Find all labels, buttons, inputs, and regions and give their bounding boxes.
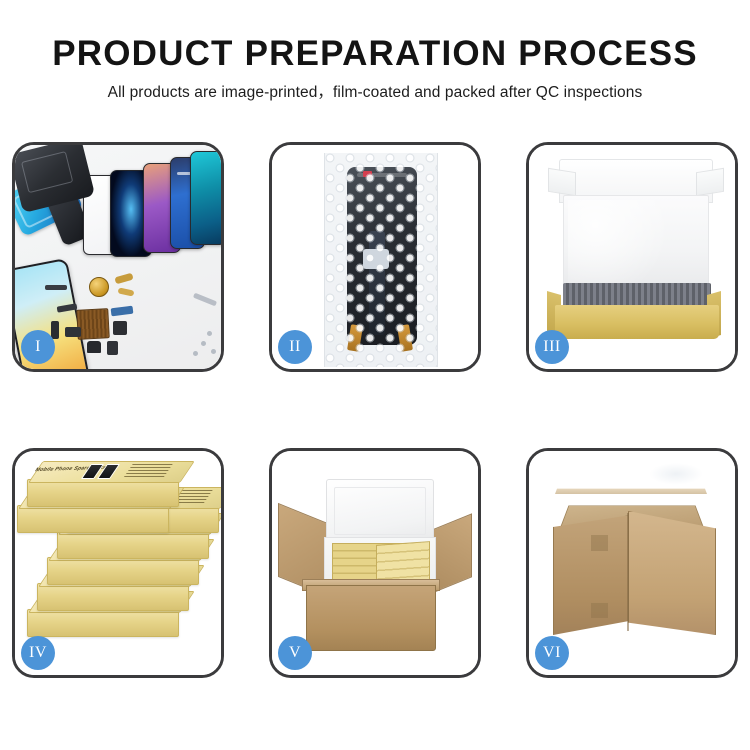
carton-hand-hole bbox=[591, 603, 608, 618]
bubble-wrap-bag bbox=[324, 153, 438, 367]
step-badge-3: III bbox=[535, 330, 569, 364]
carton-corner-seam bbox=[627, 513, 629, 631]
carton-hand-hole bbox=[591, 535, 608, 551]
step-badge-5: V bbox=[278, 636, 312, 670]
step-badge-1: I bbox=[21, 330, 55, 364]
page-title: PRODUCT PREPARATION PROCESS bbox=[0, 34, 750, 73]
carton-right-face bbox=[628, 511, 716, 635]
spare-part bbox=[87, 341, 101, 353]
process-step-panel-3: III bbox=[526, 142, 738, 372]
step-badge-2: II bbox=[278, 330, 312, 364]
foam-lid bbox=[326, 479, 434, 543]
vibration-motor-part bbox=[89, 277, 109, 297]
bubble-texture bbox=[325, 153, 437, 367]
screw-part bbox=[193, 351, 198, 356]
step-badge-4: IV bbox=[21, 636, 55, 670]
process-step-panel-6: VI bbox=[526, 448, 738, 678]
page-subtitle: All products are image-printed，film-coat… bbox=[0, 80, 750, 102]
chip-component bbox=[76, 308, 110, 340]
white-foam-padding bbox=[563, 195, 709, 289]
spare-part bbox=[65, 327, 81, 337]
retail-box bbox=[17, 505, 169, 533]
retail-box bbox=[27, 609, 179, 637]
poster-header: PRODUCT PREPARATION PROCESS All products… bbox=[0, 34, 750, 102]
spare-part bbox=[45, 285, 67, 290]
spare-part bbox=[51, 321, 59, 339]
process-step-panel-5: V bbox=[269, 448, 481, 678]
retail-box bbox=[57, 531, 209, 559]
retail-box-top: Mobile Phone Spare Parts bbox=[27, 479, 179, 507]
carton-front-face bbox=[306, 585, 436, 651]
step-badge-6: VI bbox=[535, 636, 569, 670]
spare-part bbox=[107, 341, 118, 355]
process-step-panel-4: Mobile Phone Spare Parts Mobile Phone Sp… bbox=[12, 448, 224, 678]
retail-box bbox=[47, 557, 199, 585]
carton-highlight bbox=[649, 463, 703, 485]
process-step-panel-2: II bbox=[269, 142, 481, 372]
screw-part bbox=[211, 349, 216, 354]
retail-box bbox=[37, 583, 189, 611]
process-step-panel-1: I bbox=[12, 142, 224, 372]
process-steps-grid: I II bbox=[12, 142, 738, 678]
yellow-box-front bbox=[555, 305, 719, 339]
spare-part bbox=[113, 321, 127, 335]
phone-screen-teal bbox=[190, 151, 221, 245]
product-preparation-poster: PRODUCT PREPARATION PROCESS All products… bbox=[0, 0, 750, 750]
screw-part bbox=[207, 331, 212, 336]
screw-part bbox=[201, 341, 206, 346]
packing-tape bbox=[555, 489, 707, 494]
